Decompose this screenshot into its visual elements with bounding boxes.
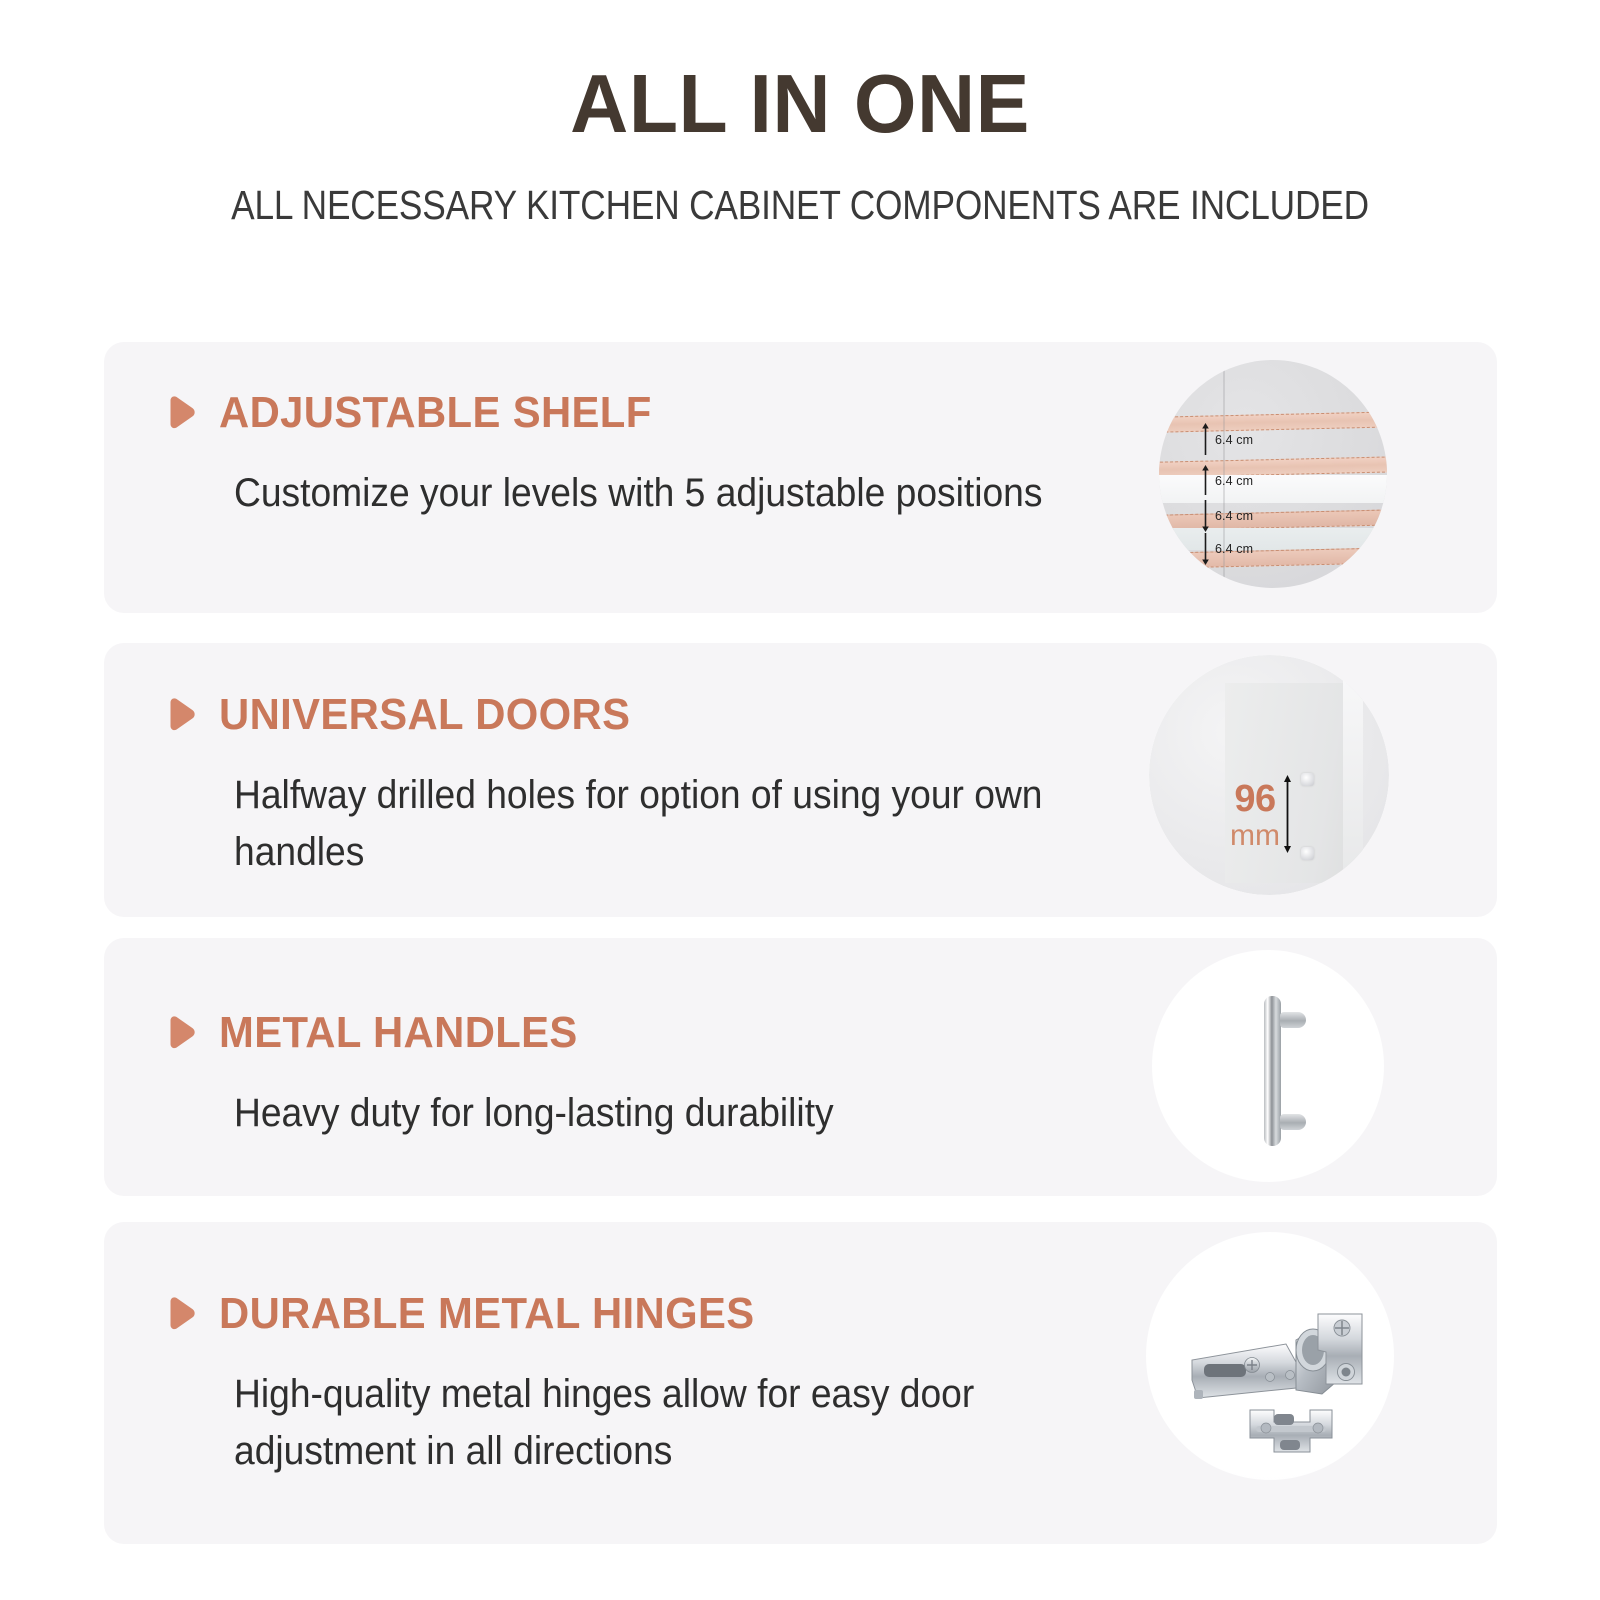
card-text-block: METAL HANDLES Heavy duty for long-lastin… bbox=[161, 1011, 1141, 1142]
handle-bar bbox=[1264, 996, 1281, 1146]
page-title: ALL IN ONE bbox=[24, 62, 1576, 145]
handle-post bbox=[1280, 1012, 1306, 1028]
dimension-label: 6.4 cm bbox=[1215, 542, 1253, 556]
triangle-right-icon bbox=[161, 1294, 201, 1334]
handle-post bbox=[1280, 1114, 1306, 1130]
dimension-arrow-icon bbox=[1201, 533, 1210, 565]
shelf-photo-inner bbox=[1159, 360, 1387, 588]
triangle-right-icon bbox=[161, 393, 201, 433]
dimension-label: 6.4 cm bbox=[1215, 433, 1253, 447]
card-heading-row: ADJUSTABLE SHELF bbox=[161, 391, 1141, 435]
card-title: UNIVERSAL DOORS bbox=[219, 693, 630, 737]
shelf-band bbox=[1159, 411, 1387, 433]
infographic-page: ALL IN ONE ALL NECESSARY KITCHEN CABINET… bbox=[0, 0, 1600, 1600]
dimension-arrow-icon bbox=[1201, 500, 1210, 532]
feature-card-durable-metal-hinges: DURABLE METAL HINGES High-quality metal … bbox=[104, 1222, 1497, 1544]
hinge-arm bbox=[1192, 1344, 1296, 1399]
header: ALL IN ONE ALL NECESSARY KITCHEN CABINET… bbox=[0, 0, 1600, 226]
dimension-arrow-icon bbox=[1201, 423, 1210, 457]
feature-card-universal-doors: UNIVERSAL DOORS Halfway drilled holes fo… bbox=[104, 643, 1497, 917]
card-description: Heavy duty for long-lasting durability bbox=[234, 1085, 1127, 1142]
door-dimension-unit: mm bbox=[1225, 821, 1285, 851]
dimension-label: 6.4 cm bbox=[1215, 474, 1253, 488]
card-text-block: DURABLE METAL HINGES High-quality metal … bbox=[161, 1292, 1141, 1480]
shelf-gap bbox=[1159, 475, 1387, 503]
card-description: High-quality metal hinges allow for easy… bbox=[234, 1366, 1052, 1480]
handle-photo bbox=[1152, 950, 1384, 1182]
card-heading-row: UNIVERSAL DOORS bbox=[161, 693, 1141, 737]
dimension-label: 6.4 cm bbox=[1215, 509, 1253, 523]
shelf-dimension-1: 6.4 cm bbox=[1201, 423, 1253, 457]
triangle-right-icon bbox=[161, 1013, 201, 1053]
door-hole bbox=[1301, 847, 1314, 860]
dimension-arrow-icon bbox=[1201, 465, 1210, 497]
card-heading-row: DURABLE METAL HINGES bbox=[161, 1292, 1141, 1336]
shelf-gap bbox=[1159, 528, 1387, 550]
card-text-block: UNIVERSAL DOORS Halfway drilled holes fo… bbox=[161, 693, 1141, 881]
door-photo: 96 mm bbox=[1149, 655, 1389, 895]
door-dimension-number: 96 bbox=[1234, 778, 1275, 820]
shelf-photo: 6.4 cm 6.4 cm 6.4 cm bbox=[1159, 360, 1387, 588]
door-hole bbox=[1301, 773, 1314, 786]
hinge-mounting-plate bbox=[1250, 1410, 1332, 1452]
triangle-right-icon bbox=[161, 695, 201, 735]
shelf-dimension-4: 6.4 cm bbox=[1201, 533, 1253, 565]
card-heading-row: METAL HANDLES bbox=[161, 1011, 1141, 1055]
shelf-band bbox=[1159, 547, 1387, 569]
card-title: ADJUSTABLE SHELF bbox=[219, 391, 652, 435]
card-title: DURABLE METAL HINGES bbox=[219, 1292, 755, 1336]
shelf-dimension-3: 6.4 cm bbox=[1201, 500, 1253, 532]
card-text-block: ADJUSTABLE SHELF Customize your levels w… bbox=[161, 391, 1141, 522]
page-subtitle: ALL NECESSARY KITCHEN CABINET COMPONENTS… bbox=[112, 185, 1488, 226]
hinge-photo bbox=[1146, 1232, 1394, 1480]
hinge-illustration bbox=[1146, 1232, 1394, 1480]
feature-card-adjustable-shelf: ADJUSTABLE SHELF Customize your levels w… bbox=[104, 342, 1497, 613]
door-dimension-value: 96 mm bbox=[1225, 780, 1285, 851]
door-edge bbox=[1343, 678, 1363, 883]
card-description: Customize your levels with 5 adjustable … bbox=[234, 465, 1127, 522]
shelf-dimension-2: 6.4 cm bbox=[1201, 465, 1253, 497]
feature-card-metal-handles: METAL HANDLES Heavy duty for long-lastin… bbox=[104, 938, 1497, 1196]
card-title: METAL HANDLES bbox=[219, 1011, 578, 1055]
card-description: Halfway drilled holes for option of usin… bbox=[234, 767, 1164, 881]
